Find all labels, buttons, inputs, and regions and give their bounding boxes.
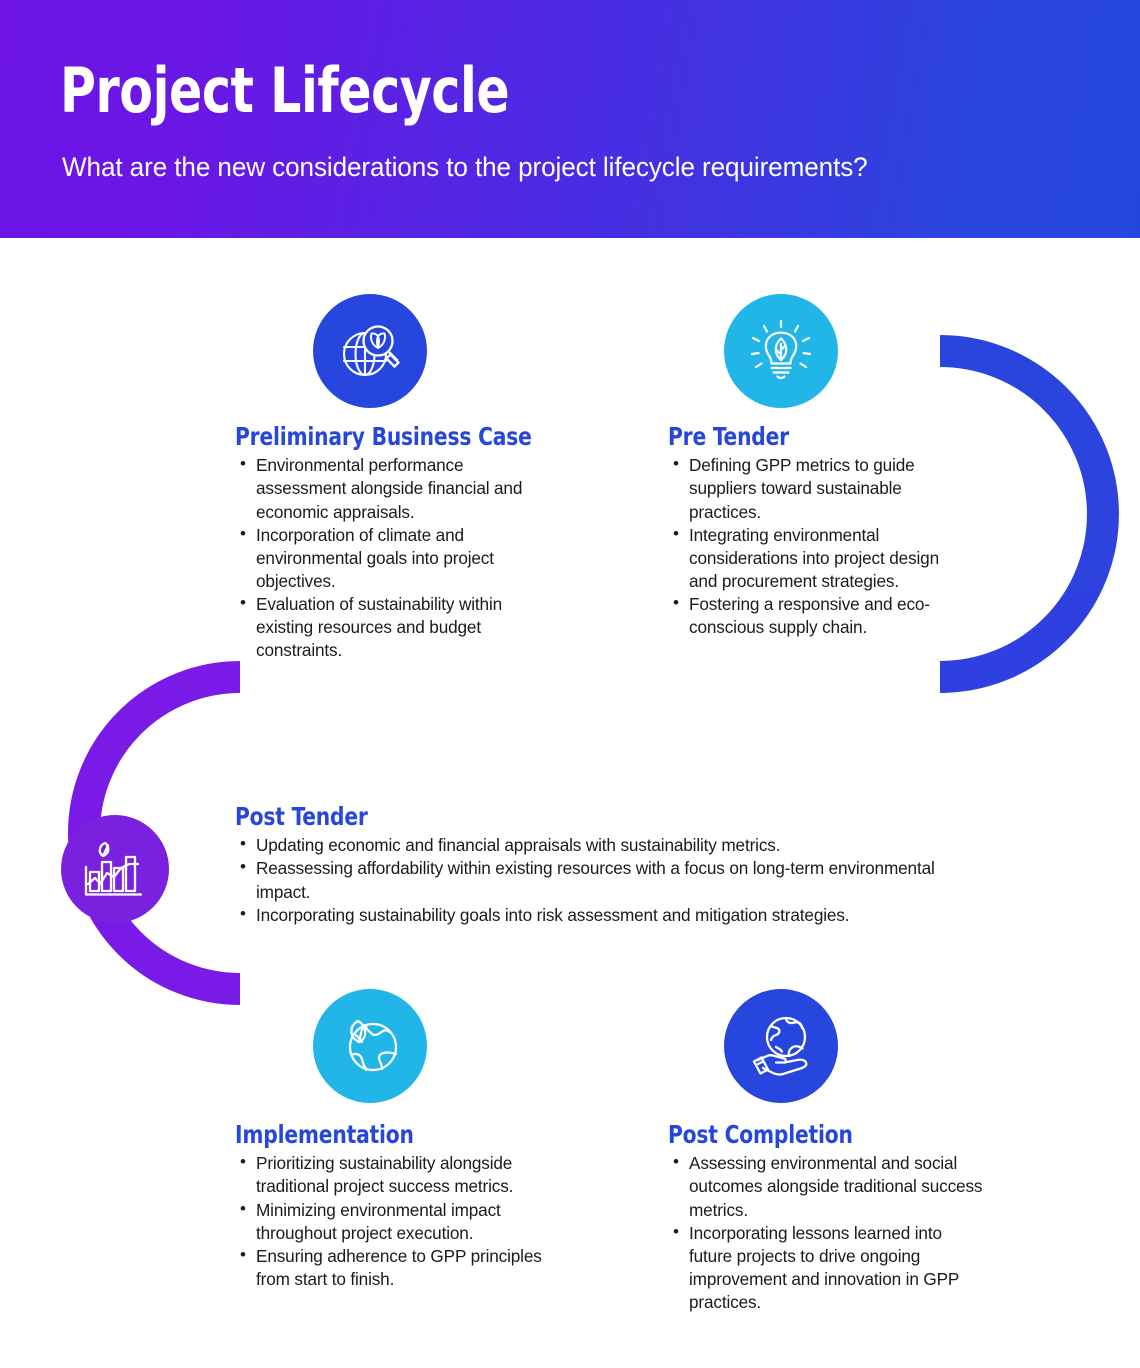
page-title: Project Lifecycle [60,60,509,122]
stage-bullets-post-completion: Assessing environmental and social outco… [668,1152,988,1314]
list-item: Defining GPP metrics to guide suppliers … [689,454,940,523]
stage-title-implementation: Implementation [235,1122,528,1148]
stage-title-post-tender: Post Tender [235,804,892,830]
list-item: Incorporating sustainability goals into … [256,904,965,927]
list-item: Minimizing environmental impact througho… [256,1199,560,1245]
stage-icon-preliminary-business-case[interactable] [313,294,427,408]
list-item: Integrating environmental considerations… [689,524,940,593]
list-item: Fostering a responsive and eco-conscious… [689,593,940,639]
header-banner: Project Lifecycle What are the new consi… [0,0,1140,238]
list-item: Assessing environmental and social outco… [689,1152,988,1221]
stage-block-post-completion: Post Completion Assessing environmental … [668,1122,988,1314]
list-item: Evaluation of sustainability within exis… [256,593,550,662]
stage-block-implementation: Implementation Prioritizing sustainabili… [235,1122,560,1291]
hand-holding-earth-icon [745,1010,817,1082]
infographic-poster: Project Lifecycle What are the new consi… [0,0,1140,1368]
stage-block-post-tender: Post Tender Updating economic and financ… [235,804,965,927]
stage-block-preliminary-business-case: Preliminary Business Case Environmental … [235,424,550,662]
stage-title-pre-tender: Pre Tender [668,424,913,450]
page-subtitle: What are the new considerations to the p… [62,152,868,183]
list-item: Ensuring adherence to GPP principles fro… [256,1245,560,1291]
stage-bullets-pre-tender: Defining GPP metrics to guide suppliers … [668,454,940,639]
stage-bullets-post-tender: Updating economic and financial appraisa… [235,834,965,927]
globe-magnifier-leaf-icon [336,317,404,385]
stage-bullets-implementation: Prioritizing sustainability alongside tr… [235,1152,560,1291]
stage-icon-post-tender[interactable] [61,815,169,923]
list-item: Reassessing affordability within existin… [256,857,965,903]
list-item: Prioritizing sustainability alongside tr… [256,1152,560,1198]
list-item: Incorporating lessons learned into futur… [689,1222,988,1315]
list-item: Environmental performance assessment alo… [256,454,550,523]
stage-bullets-preliminary-business-case: Environmental performance assessment alo… [235,454,550,662]
list-item: Incorporation of climate and environment… [256,524,550,593]
list-item: Updating economic and financial appraisa… [256,834,965,857]
lightbulb-leaf-icon [746,316,816,386]
stage-icon-post-completion[interactable] [724,989,838,1103]
bar-chart-leaf-icon [83,837,147,901]
stage-icon-pre-tender[interactable] [724,294,838,408]
stage-title-post-completion: Post Completion [668,1122,956,1148]
stage-icon-implementation[interactable] [313,989,427,1103]
earth-leaf-icon [335,1011,405,1081]
stage-title-preliminary-business-case: Preliminary Business Case [235,424,519,450]
stage-block-pre-tender: Pre Tender Defining GPP metrics to guide… [668,424,940,639]
